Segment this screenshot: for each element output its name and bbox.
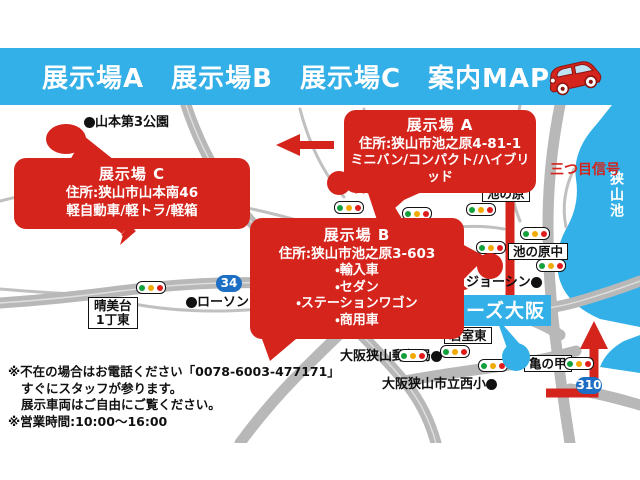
intersection-ikenohara-naka: 池の原中 xyxy=(508,243,568,260)
callout-a-address: 住所:狭山市池之原4-81-1 xyxy=(348,135,532,153)
route-shield-310: 310 xyxy=(576,377,602,394)
footer-line-4: ※営業時間:10:00～16:00 xyxy=(8,414,338,431)
callout-b-title: 展示場 B xyxy=(256,226,458,245)
callout-b-item-2: ・ステーションワゴン xyxy=(256,296,458,313)
header-banner: 展示場A 展示場B 展示場C 案内MAP xyxy=(0,48,640,105)
traffic-signal-icon xyxy=(466,203,496,216)
route-arrow-left xyxy=(276,134,334,156)
footer-line-3: 展示車両はご自由にご覧ください。 xyxy=(8,397,338,414)
poi-dot-icon xyxy=(486,379,497,390)
callout-showroom-a[interactable]: 展示場 A 住所:狭山市池之原4-81-1 ミニバン/コンパクト/ハイブリッド xyxy=(344,110,536,193)
callout-c-title: 展示場 C xyxy=(18,165,246,184)
footer-notes: ※不在の場合はお電話ください「0078-6003-477171」 すぐにスタッフ… xyxy=(8,364,338,430)
poi-dot-icon xyxy=(186,297,197,308)
traffic-signal-icon xyxy=(398,349,428,362)
callout-b-item-0: ・輸入車 xyxy=(256,263,458,280)
callout-a-title: 展示場 A xyxy=(348,116,532,135)
traffic-signal-icon xyxy=(334,201,364,214)
intersection-harumidai-line1: 晴美台 xyxy=(94,299,132,313)
intersection-harumidai-line2: 1丁東 xyxy=(94,313,132,327)
traffic-signal-icon xyxy=(564,357,594,370)
blob-cars-osaka xyxy=(502,343,530,371)
footer-line-2: すぐにスタッフが参ります。 xyxy=(8,381,338,398)
callout-b-address: 住所:狭山市池之原3-603 xyxy=(256,245,458,263)
callout-b-item-3: ・商用車 xyxy=(256,313,458,330)
route-arrowhead-bottom xyxy=(580,321,608,349)
callout-b-tail-left xyxy=(262,339,296,361)
callout-c-address: 住所:狭山市山本南46 xyxy=(18,184,246,202)
map-flyer: 展示場A 展示場B 展示場C 案内MAP xyxy=(0,0,640,480)
traffic-signal-icon xyxy=(440,345,470,358)
poi-yamamoto-park: 山本第3公園 xyxy=(84,111,169,130)
poi-lawson: ローソン xyxy=(186,291,249,310)
poi-nishi-elementary: 大阪狭山市立西小 xyxy=(382,373,497,392)
callout-showroom-c[interactable]: 展示場 C 住所:狭山市山本南46 軽自動車/軽トラ/軽箱 xyxy=(14,158,250,229)
callout-b-tail xyxy=(378,199,402,219)
red-car-icon xyxy=(542,54,604,98)
poi-dot-icon xyxy=(84,117,95,128)
intersection-ikenohara-naka-label: 池の原中 xyxy=(513,244,563,259)
callout-b-tail-right xyxy=(462,244,486,281)
intersection-harumidai: 晴美台 1丁東 xyxy=(88,297,138,329)
callout-showroom-b[interactable]: 展示場 B 住所:狭山市池之原3-603 ・輸入車 ・セダン ・ステーションワゴ… xyxy=(250,218,464,339)
poi-yamamoto-park-label: 山本第3公園 xyxy=(95,115,169,130)
callout-a-categories: ミニバン/コンパクト/ハイブリッド xyxy=(348,153,532,186)
route-shield-34: 34 xyxy=(216,275,242,292)
page-title: 展示場A 展示場B 展示場C 案内MAP xyxy=(42,58,550,95)
traffic-signal-icon xyxy=(520,227,550,240)
poi-dot-icon xyxy=(531,277,542,288)
callout-c-categories: 軽自動車/軽トラ/軽箱 xyxy=(18,202,246,220)
footer-line-1: ※不在の場合はお電話ください「0078-6003-477171」 xyxy=(8,364,338,381)
traffic-signal-icon xyxy=(536,259,566,272)
traffic-signal-icon xyxy=(136,281,166,294)
poi-nishi-elementary-label: 大阪狭山市立西小 xyxy=(382,377,486,392)
lake-shape-lower xyxy=(600,335,640,373)
callout-c-tail xyxy=(70,136,114,160)
poi-lawson-label: ローソン xyxy=(197,295,249,310)
label-third-signal: 三つ目信号 xyxy=(550,159,620,179)
callout-b-item-1: ・セダン xyxy=(256,280,458,297)
